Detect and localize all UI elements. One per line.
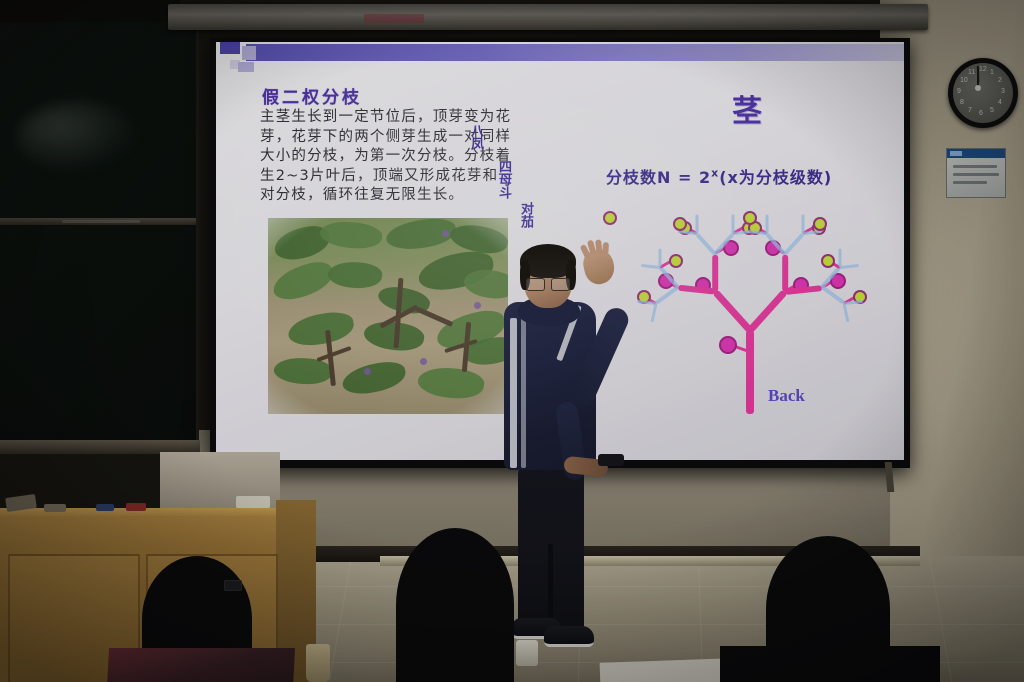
slide-title: 假二权分枝 — [262, 83, 362, 108]
clock-numeral: 3 — [1001, 88, 1005, 95]
slide-header-band — [246, 44, 904, 61]
clock-numeral: 11 — [968, 69, 975, 76]
branch-segment — [713, 289, 753, 332]
slide-section-heading: 茎 — [732, 86, 762, 130]
sign-text-line-3 — [953, 181, 987, 184]
branch-segment — [842, 303, 849, 323]
body-line-3: 大小的分枝，为第一次分枝。分枝着 — [260, 147, 560, 167]
branch-segment — [782, 254, 788, 291]
blackboard — [0, 22, 199, 452]
presenter — [498, 244, 610, 654]
branch-segment — [783, 232, 804, 255]
branch-segment — [640, 264, 660, 269]
sign-header-icon — [950, 151, 962, 156]
body-line-5: 对分枝，循环往复无限生长。 — [260, 186, 560, 206]
node-terminal-bud — [669, 254, 683, 268]
clock-numeral: 4 — [998, 99, 1002, 106]
annotation-ba-feng: 八凤 — [466, 124, 485, 150]
photo-flower — [442, 230, 449, 237]
clock-numeral: 10 — [960, 77, 968, 84]
formula-prefix: 分枝数N = 2 — [606, 168, 711, 187]
hoodie-stripe-inner — [521, 318, 526, 468]
sign-text-line-1 — [953, 165, 997, 168]
clock-numeral: 7 — [968, 107, 972, 114]
clock-numeral: 6 — [979, 110, 983, 117]
body-line-1: 主茎生长到一定节位后，顶芽变为花 — [260, 108, 560, 128]
screen-roller-housing — [168, 4, 928, 30]
annotation-si-mu-dou: 四母斗 — [494, 160, 513, 199]
observer-center-head — [396, 528, 514, 682]
podium-item-marker-red — [126, 503, 146, 511]
sign-text-line-2 — [953, 173, 999, 176]
clock-numeral: 8 — [960, 99, 964, 106]
node-terminal-bud — [603, 211, 617, 225]
node-terminal-bud — [743, 211, 757, 225]
branch-segment — [651, 303, 658, 323]
clock-numeral: 12 — [979, 66, 987, 73]
lens-left — [526, 278, 545, 291]
presentation-remote — [598, 454, 624, 466]
clock-numeral: 1 — [990, 69, 994, 76]
podium-item-paper — [44, 504, 66, 512]
wall-clock: 121234567891011 — [948, 58, 1018, 128]
formula-exponent: x — [711, 167, 719, 180]
branch-segment — [747, 289, 787, 332]
eggplant-field-photo — [268, 218, 508, 414]
branch-segment — [765, 214, 768, 233]
floor-tile-line — [329, 556, 352, 682]
clock-numeral: 5 — [990, 107, 994, 114]
water-cup — [306, 644, 330, 682]
branch-segment — [712, 254, 718, 291]
branch-segment — [840, 264, 860, 269]
photo-flower — [474, 302, 481, 309]
photo-flower — [420, 358, 427, 365]
photo-flower — [364, 368, 371, 375]
clock-numeral: 2 — [998, 77, 1002, 84]
node-terminal-bud — [821, 254, 835, 268]
hoodie-stripe-outer — [510, 318, 517, 468]
paper-cup — [516, 640, 538, 666]
node-terminal-bud — [813, 217, 827, 231]
classroom-scene: 假二权分枝 主茎生长到一定节位后，顶芽变为花 芽，花芽下的两个侧芽生成一对同样 … — [0, 0, 1024, 682]
blackboard-glare — [18, 102, 138, 172]
node-terminal-bud — [673, 217, 687, 231]
presenter-glasses — [526, 278, 570, 289]
branch-segment — [821, 286, 845, 305]
observer-left-glasses — [224, 580, 242, 591]
branch-segment — [696, 214, 699, 233]
podium-item-marker-blue — [96, 504, 114, 511]
body-line-4: 生2~3片叶后，顶端又形成花芽和一 — [260, 167, 560, 187]
podium-item-device — [236, 496, 270, 508]
lens-right — [551, 278, 570, 291]
observer-left-plaid-shirt — [107, 648, 295, 682]
back-link[interactable]: Back — [768, 386, 805, 406]
formula-suffix: (x为分枝级数) — [719, 168, 832, 187]
chalk-mark — [62, 220, 140, 223]
finger-4 — [602, 242, 609, 257]
main-trunk — [746, 330, 754, 414]
body-line-2: 芽，花芽下的两个侧芽生成一对同样 — [260, 128, 560, 148]
roller-brand-label — [364, 14, 424, 23]
branch-segment — [678, 230, 698, 235]
annotation-dui-qie: 对茄 — [516, 202, 535, 228]
branch-segment — [658, 248, 661, 267]
clock-center-pin — [975, 85, 981, 91]
clock-face: 121234567891011 — [953, 63, 1013, 123]
header-square-2 — [242, 46, 256, 60]
wall-notice-sign — [946, 148, 1006, 198]
header-square-1 — [220, 42, 240, 54]
observer-right-shoulders — [720, 646, 940, 682]
branching-formula: 分枝数N = 2x(x为分枝级数) — [606, 164, 832, 188]
branch-segment — [839, 248, 842, 267]
shoe-right — [544, 626, 594, 647]
header-square-4 — [238, 62, 254, 72]
clock-numeral: 9 — [957, 88, 961, 95]
node-flower-bud — [719, 336, 737, 354]
slide-body-text: 主茎生长到一定节位后，顶芽变为花 芽，花芽下的两个侧芽生成一对同样 大小的分枝，… — [260, 108, 560, 206]
